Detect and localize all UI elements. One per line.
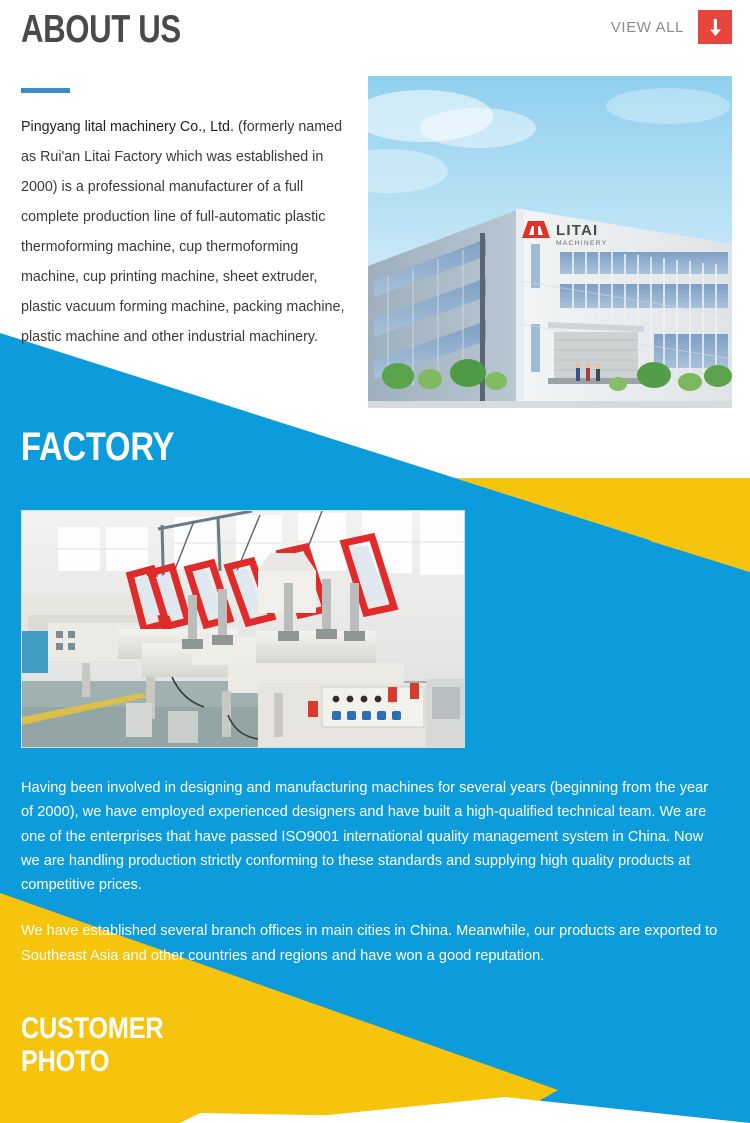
factory-description: Having been involved in designing and ma…	[21, 776, 719, 968]
page-title: ABOUT US	[21, 8, 181, 52]
view-all-group[interactable]: VIEW ALL	[611, 10, 732, 44]
arrow-down-icon[interactable]	[698, 10, 732, 44]
about-body: (formerly named as Rui'an Litai Factory …	[21, 119, 344, 345]
factory-building-photo: LITAI MACHINERY	[368, 76, 732, 408]
about-header: ABOUT US VIEW ALL	[0, 0, 750, 62]
production-line-photo	[21, 510, 465, 748]
customer-photo-title-line2: PHOTO	[21, 1045, 163, 1078]
factory-section-title: FACTORY	[21, 424, 174, 470]
factory-paragraph-1: Having been involved in designing and ma…	[21, 776, 719, 897]
customer-photo-title-line1: CUSTOMER	[21, 1012, 163, 1045]
view-all-label: VIEW ALL	[611, 19, 684, 36]
svg-text:MACHINERY: MACHINERY	[556, 240, 608, 247]
svg-text:LITAI: LITAI	[556, 222, 598, 239]
about-text-block: Pingyang lital machinery Co., Ltd. (form…	[21, 112, 353, 352]
accent-rule	[21, 88, 70, 93]
customer-photo-section-title: CUSTOMER PHOTO	[21, 1012, 163, 1078]
about-us-page: ABOUT US VIEW ALL Pingyang lital machine…	[0, 0, 750, 1123]
factory-paragraph-2: We have established several branch offic…	[21, 919, 719, 968]
company-name: Pingyang lital machinery Co., Ltd.	[21, 119, 234, 135]
